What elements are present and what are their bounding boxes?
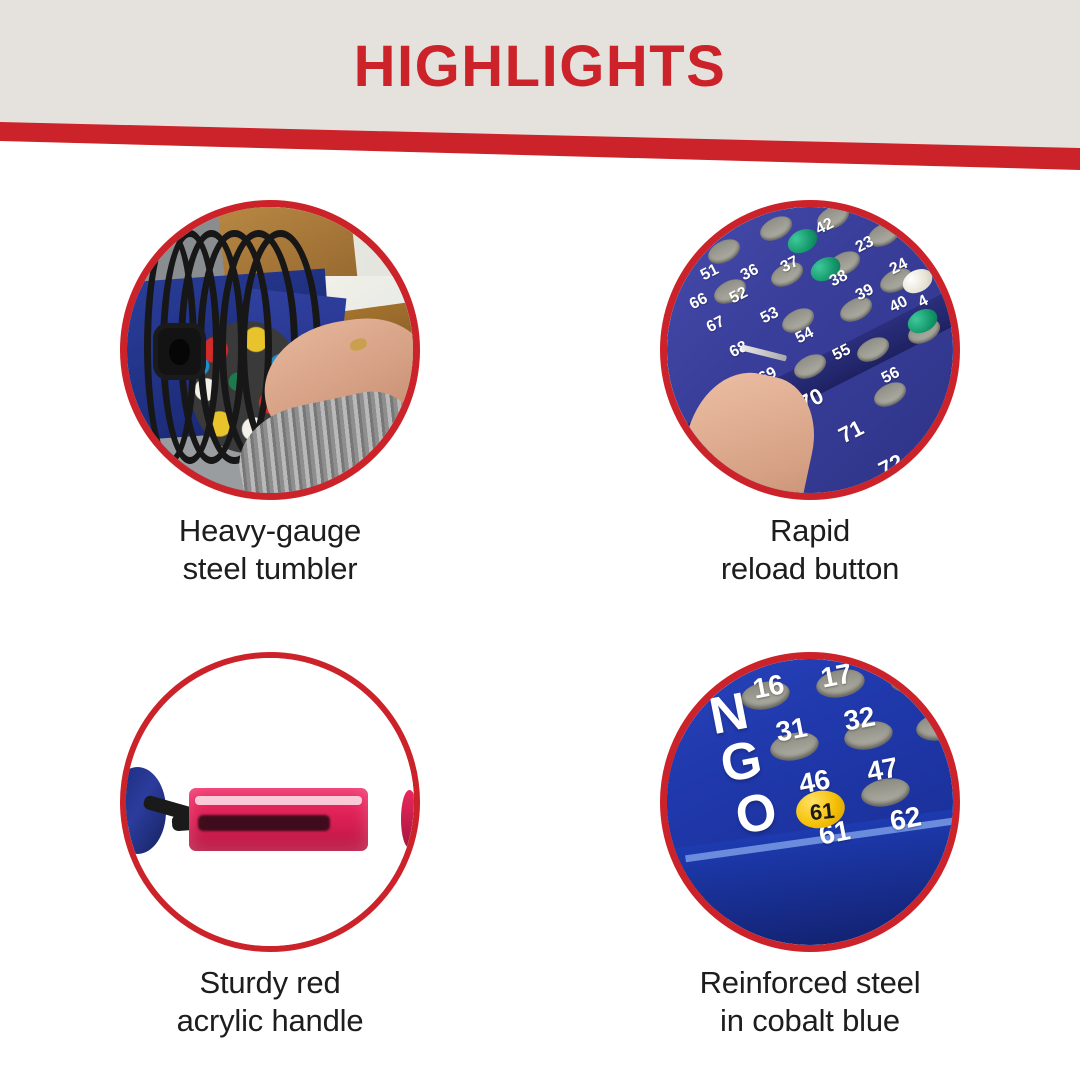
- caption-line-2: steel tumbler: [0, 550, 540, 588]
- highlights-grid: Heavy-gauge steel tumbler: [0, 176, 1080, 1080]
- board-number: 55: [830, 341, 854, 365]
- cage-hub: [158, 328, 201, 375]
- highlight-image-acrylic-handle: [120, 652, 420, 952]
- highlight-card-sturdy-red-acrylic-handle: Sturdy red acrylic handle: [0, 628, 540, 1080]
- caption-line-1: Sturdy red: [0, 964, 540, 1002]
- board-number: 16: [750, 671, 786, 704]
- page-title: HIGHLIGHTS: [0, 33, 1080, 100]
- board-hole: [853, 332, 893, 366]
- highlight-caption: Reinforced steel in cobalt blue: [540, 964, 1080, 1040]
- board-number: 40: [887, 293, 911, 317]
- board-number: 32: [842, 702, 878, 735]
- highlight-image-tumbler: [120, 200, 420, 500]
- board-number: 72: [874, 449, 908, 483]
- photo-acrylic-handle: [126, 658, 414, 946]
- caption-line-1: Heavy-gauge: [0, 512, 540, 550]
- highlight-caption: Heavy-gauge steel tumbler: [0, 512, 540, 588]
- handle-end-cap: [401, 790, 418, 848]
- highlight-image-wrap: 36 42 23 24 51 37 38 39 40 52 53 54 55 5…: [660, 200, 960, 500]
- handle-inner-shaft: [198, 815, 330, 831]
- highlight-card-reinforced-steel-cobalt-blue: N G O 16 17 31 32 46 47 61 62 61 Reinfor…: [540, 628, 1080, 1080]
- board-number: 71: [834, 414, 868, 448]
- board-number: 53: [758, 304, 782, 328]
- board-number: 67: [704, 313, 728, 337]
- board-hole: [790, 349, 830, 383]
- highlight-card-heavy-gauge-steel-tumbler: Heavy-gauge steel tumbler: [0, 176, 540, 628]
- photo-reload-button: 36 42 23 24 51 37 38 39 40 52 53 54 55 5…: [667, 207, 953, 493]
- highlight-card-rapid-reload-button: 36 42 23 24 51 37 38 39 40 52 53 54 55 5…: [540, 176, 1080, 628]
- highlight-image-wrap: [120, 200, 420, 500]
- handle-gloss-highlight: [195, 796, 362, 805]
- board-number: 17: [819, 659, 855, 692]
- caption-line-2: in cobalt blue: [540, 1002, 1080, 1040]
- highlight-image-wrap: [120, 652, 420, 952]
- yellow-ball-number: 61: [809, 798, 836, 826]
- board-number: 47: [865, 754, 901, 787]
- highlight-image-reload-button: 36 42 23 24 51 37 38 39 40 52 53 54 55 5…: [660, 200, 960, 500]
- highlight-caption: Rapid reload button: [540, 512, 1080, 588]
- highlight-caption: Sturdy red acrylic handle: [0, 964, 540, 1040]
- photo-bingo-cage: [127, 207, 413, 493]
- photo-cobalt-board: N G O 16 17 31 32 46 47 61 62 61: [667, 659, 953, 945]
- board-number: 51: [698, 261, 722, 285]
- caption-line-1: Reinforced steel: [540, 964, 1080, 1002]
- board-number: 62: [888, 802, 924, 835]
- highlight-image-wrap: N G O 16 17 31 32 46 47 61 62 61: [660, 652, 960, 952]
- board-number: 4: [915, 292, 931, 312]
- board-number: 31: [773, 713, 809, 746]
- caption-line-1: Rapid: [540, 512, 1080, 550]
- board-number: 66: [687, 290, 711, 314]
- highlight-image-cobalt-board: N G O 16 17 31 32 46 47 61 62 61: [660, 652, 960, 952]
- caption-line-2: acrylic handle: [0, 1002, 540, 1040]
- page-header: HIGHLIGHTS: [0, 0, 1080, 176]
- caption-line-2: reload button: [540, 550, 1080, 588]
